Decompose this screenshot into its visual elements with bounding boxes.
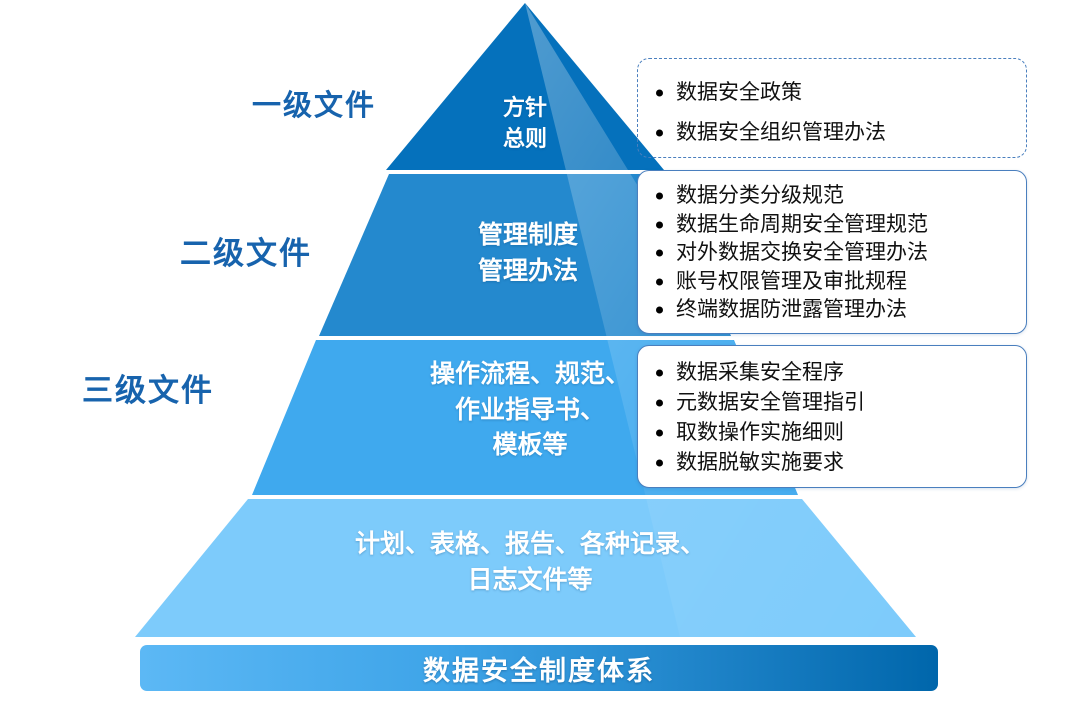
list-item: 终端数据防泄露管理办法	[652, 296, 1008, 325]
list-item: 数据安全组织管理办法	[652, 113, 1008, 153]
list-item: 账号权限管理及审批规程	[652, 268, 1008, 297]
pyramid-tier-2-line-2: 管理办法	[448, 254, 608, 290]
list-item: 数据分类分级规范	[652, 182, 1008, 211]
bottom-banner-title: 数据安全制度体系	[423, 649, 655, 688]
bottom-banner: 数据安全制度体系	[140, 645, 938, 691]
list-item: 对外数据交换安全管理办法	[652, 239, 1008, 268]
callout-level-1: 数据安全政策 数据安全组织管理办法	[637, 58, 1027, 158]
callout-level-3-list: 数据采集安全程序 元数据安全管理指引 取数操作实施细则 数据脱敏实施要求	[652, 358, 1008, 478]
diagram-canvas: 一级文件 二级文件 三级文件 方针 总则 管理制度 管理办法 操作流程、规范、 …	[0, 0, 1080, 701]
pyramid-tier-4-line-1: 计划、表格、报告、各种记录、	[300, 527, 760, 563]
callout-level-3: 数据采集安全程序 元数据安全管理指引 取数操作实施细则 数据脱敏实施要求	[637, 345, 1027, 488]
tier-label-level-2: 二级文件	[180, 228, 312, 273]
pyramid-tier-3-line-3: 模板等	[410, 428, 650, 464]
callout-level-1-list: 数据安全政策 数据安全组织管理办法	[652, 73, 1008, 153]
pyramid-tier-1-line-2: 总则	[455, 123, 595, 154]
list-item: 数据安全政策	[652, 73, 1008, 113]
pyramid-tier-1-text: 方针 总则	[455, 92, 595, 154]
pyramid-tier-3-line-1: 操作流程、规范、	[410, 357, 650, 393]
pyramid-tier-3-line-2: 作业指导书、	[410, 393, 650, 429]
pyramid-tier-2-text: 管理制度 管理办法	[448, 218, 608, 289]
pyramid-tier-3-text: 操作流程、规范、 作业指导书、 模板等	[410, 357, 650, 464]
pyramid-tier-1-line-1: 方针	[455, 92, 595, 123]
callout-level-2-list: 数据分类分级规范 数据生命周期安全管理规范 对外数据交换安全管理办法 账号权限管…	[652, 182, 1008, 325]
pyramid-tier-4-text: 计划、表格、报告、各种记录、 日志文件等	[300, 527, 760, 598]
pyramid-tier-4-line-2: 日志文件等	[300, 563, 760, 599]
callout-level-2: 数据分类分级规范 数据生命周期安全管理规范 对外数据交换安全管理办法 账号权限管…	[637, 170, 1027, 334]
list-item: 元数据安全管理指引	[652, 388, 1008, 418]
list-item: 数据采集安全程序	[652, 358, 1008, 388]
tier-label-level-1: 一级文件	[252, 82, 376, 124]
list-item: 取数操作实施细则	[652, 418, 1008, 448]
tier-label-level-3: 三级文件	[82, 365, 214, 410]
pyramid-tier-2-line-1: 管理制度	[448, 218, 608, 254]
list-item: 数据脱敏实施要求	[652, 448, 1008, 478]
list-item: 数据生命周期安全管理规范	[652, 211, 1008, 240]
